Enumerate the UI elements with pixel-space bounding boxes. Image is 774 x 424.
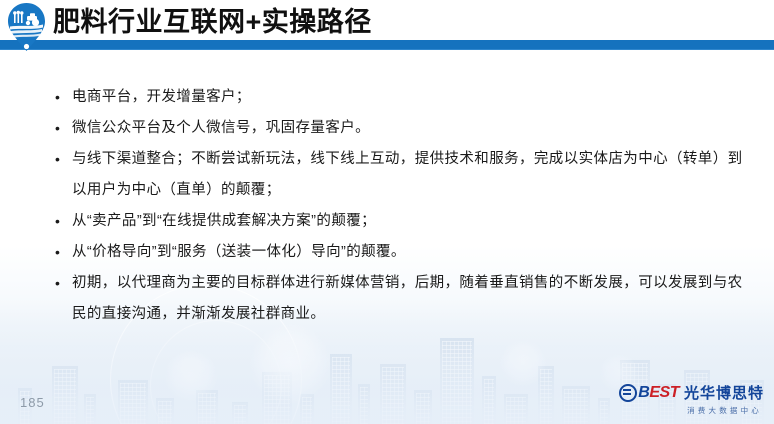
- bullet-list: • 电商平台，开发增量客户； • 微信公众平台及个人微信号，巩固存量客户。 • …: [0, 82, 774, 330]
- list-item: • 从“价格导向”到“服务（送装一体化）导向”的颠覆。: [0, 237, 774, 268]
- list-item-text: 微信公众平台及个人微信号，巩固存量客户。: [72, 113, 752, 144]
- bullet-marker: •: [55, 144, 65, 175]
- list-item-text: 与线下渠道整合；不断尝试新玩法，线下线上互动，提供技术和服务，完成以实体店为中心…: [72, 144, 752, 206]
- list-item: • 初期，以代理商为主要的目标群体进行新媒体营销，后期，随着垂直销售的不断发展，…: [0, 268, 774, 330]
- list-item-text: 从“价格导向”到“服务（送装一体化）导向”的颠覆。: [72, 237, 752, 268]
- brand-name-cn: 光华博思特: [684, 386, 764, 401]
- list-item: • 从“卖产品”到“在线提供成套解决方案”的颠覆；: [0, 206, 774, 237]
- brand-subtitle: 消费大数据中心: [687, 405, 762, 416]
- list-item: • 与线下渠道整合；不断尝试新玩法，线下线上互动，提供技术和服务，完成以实体店为…: [0, 144, 774, 206]
- bullet-marker: •: [55, 206, 65, 237]
- brand-letters-es: ES: [649, 384, 669, 401]
- bullet-marker: •: [55, 237, 65, 268]
- slide-canvas: 肥料行业互联网+实操路径 • 电商平台，开发增量客户； • 微信公众平台及个人微…: [0, 0, 774, 424]
- list-item-text: 初期，以代理商为主要的目标群体进行新媒体营销，后期，随着垂直销售的不断发展，可以…: [72, 268, 752, 330]
- farm-location-pin-icon: [6, 2, 47, 52]
- page-title: 肥料行业互联网+实操路径: [53, 5, 372, 39]
- list-item: • 电商平台，开发增量客户；: [0, 82, 774, 113]
- bullet-marker: •: [55, 82, 65, 113]
- brand-letter-b: B: [638, 384, 649, 401]
- best-circle-logo-icon: [619, 384, 637, 402]
- bullet-marker: •: [55, 268, 65, 299]
- list-item-text: 电商平台，开发增量客户；: [72, 82, 752, 113]
- slide-header: 肥料行业互联网+实操路径: [0, 0, 774, 52]
- list-item: • 微信公众平台及个人微信号，巩固存量客户。: [0, 113, 774, 144]
- bullet-marker: •: [55, 113, 65, 144]
- brand-wordmark: BEST: [638, 385, 679, 401]
- brand-logo: BEST 光华博思特 消费大数据中心: [619, 384, 764, 414]
- list-item-text: 从“卖产品”到“在线提供成套解决方案”的颠覆；: [72, 206, 752, 237]
- brand-logo-main: BEST 光华博思特: [619, 384, 764, 402]
- header-accent-bar: [0, 40, 774, 50]
- brand-letter-t: T: [670, 384, 679, 401]
- page-number: 185: [20, 395, 45, 410]
